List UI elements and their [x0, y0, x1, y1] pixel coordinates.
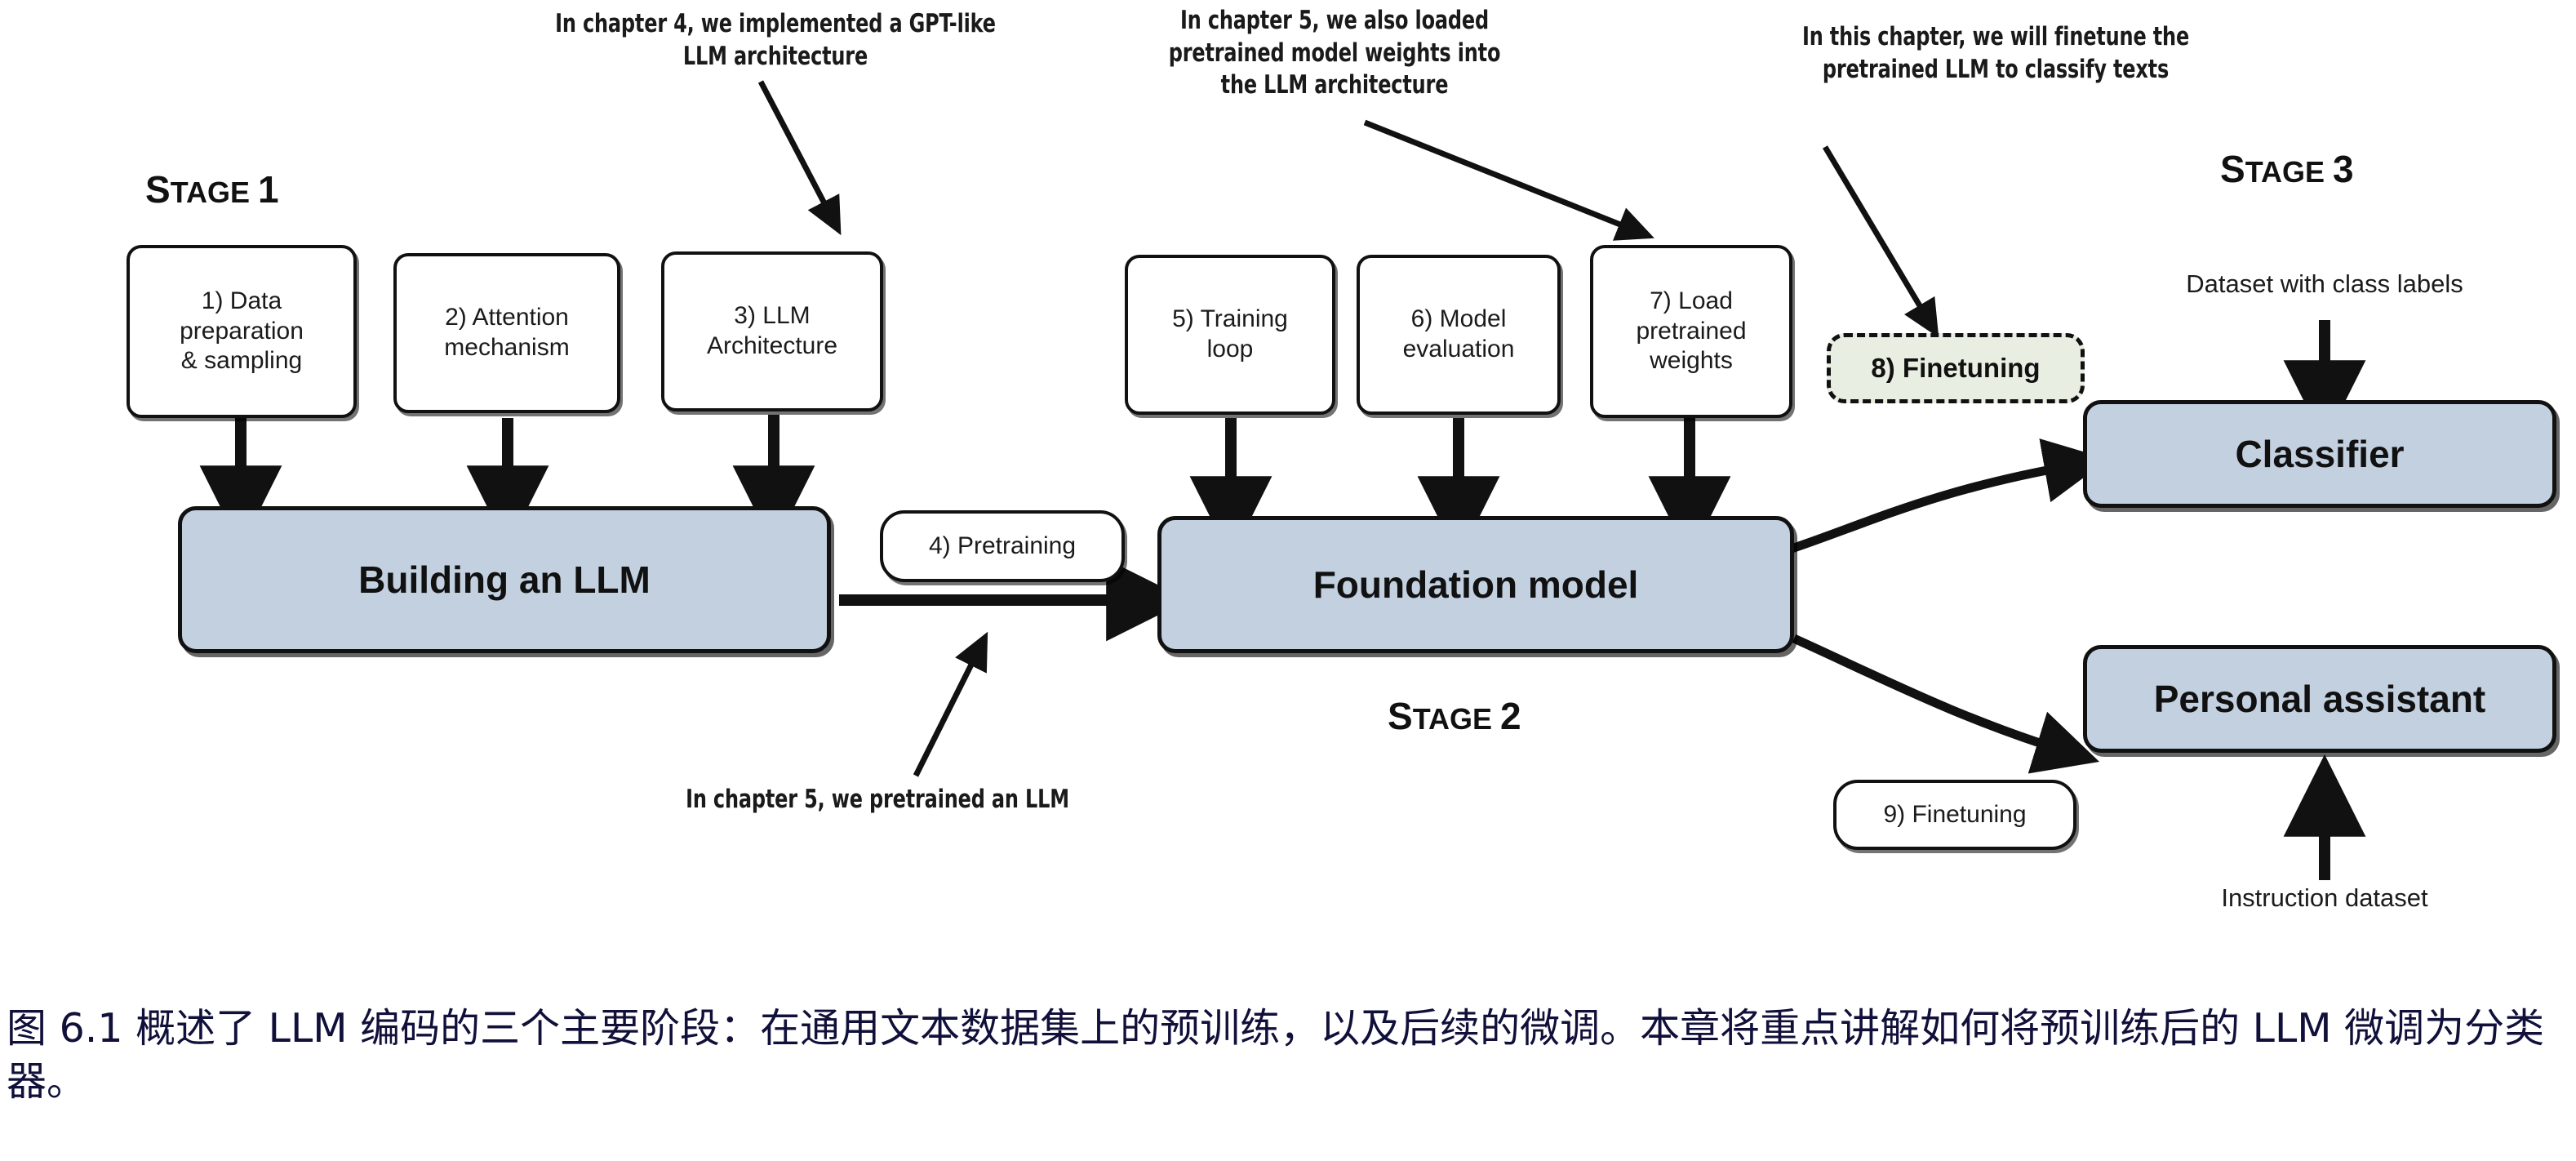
stage-2-lead: S	[1388, 694, 1413, 738]
stage-2-label: STAGE2	[1388, 694, 1521, 738]
step-box-training-loop[interactable]: 5) Training loop	[1125, 255, 1335, 415]
stage-1-label: STAGE1	[145, 167, 279, 211]
primary-box-classifier[interactable]: Classifier	[2083, 400, 2556, 508]
note-this-chapter: In this chapter, we will finetune the pr…	[1725, 21, 2266, 86]
arrow-note-this-chapter	[1825, 147, 1931, 325]
pill-pretraining[interactable]: 4) Pretraining	[880, 510, 1125, 582]
arrow-foundation-to-classifier	[1792, 465, 2073, 549]
figure-caption: 图 6.1 概述了 LLM 编码的三个主要阶段：在通用文本数据集上的预训练，以及…	[7, 1003, 2561, 1108]
stage-1-rest: TAGE	[171, 176, 250, 210]
primary-box-personal-assistant[interactable]: Personal assistant	[2083, 645, 2556, 753]
step-box-attention-mechanism[interactable]: 2) Attention mechanism	[393, 253, 620, 413]
step-box-llm-architecture[interactable]: 3) LLM Architecture	[661, 251, 883, 411]
step-box-data-preparation[interactable]: 1) Data preparation & sampling	[127, 245, 357, 418]
label-instruction-dataset: Instruction dataset	[2080, 883, 2569, 913]
note-chapter-4: In chapter 4, we implemented a GPT-like …	[530, 8, 1021, 73]
stage-3-rest: TAGE	[2245, 155, 2325, 189]
stage-3-label: STAGE3	[2220, 147, 2354, 191]
step-box-finetuning-8[interactable]: 8) Finetuning	[1827, 333, 2085, 403]
pill-finetuning-9[interactable]: 9) Finetuning	[1833, 780, 2076, 850]
primary-box-foundation-model[interactable]: Foundation model	[1157, 516, 1794, 653]
arrow-note-ch5-weights	[1365, 122, 1641, 233]
step-box-load-pretrained-weights[interactable]: 7) Load pretrained weights	[1590, 245, 1792, 418]
arrow-note-ch5-pretrain	[916, 645, 981, 776]
stage-2-rest: TAGE	[1413, 702, 1492, 736]
stage-2-number: 2	[1500, 694, 1521, 738]
arrow-foundation-to-assistant	[1794, 638, 2065, 751]
stage-3-lead: S	[2220, 147, 2245, 191]
stage-3-number: 3	[2333, 147, 2354, 191]
stage-1-number: 1	[258, 167, 279, 211]
note-chapter-5-weights: In chapter 5, we also loaded pretrained …	[1092, 5, 1576, 102]
note-chapter-5-pretrained: In chapter 5, we pretrained an LLM	[615, 784, 1141, 816]
figure-canvas: In chapter 4, we implemented a GPT-like …	[0, 0, 2576, 1161]
step-box-model-evaluation[interactable]: 6) Model evaluation	[1357, 255, 1561, 415]
arrow-note-ch4	[761, 82, 834, 222]
primary-box-building-an-llm[interactable]: Building an LLM	[178, 506, 831, 653]
label-dataset-with-class-labels: Dataset with class labels	[2080, 269, 2569, 299]
stage-1-lead: S	[145, 167, 171, 211]
